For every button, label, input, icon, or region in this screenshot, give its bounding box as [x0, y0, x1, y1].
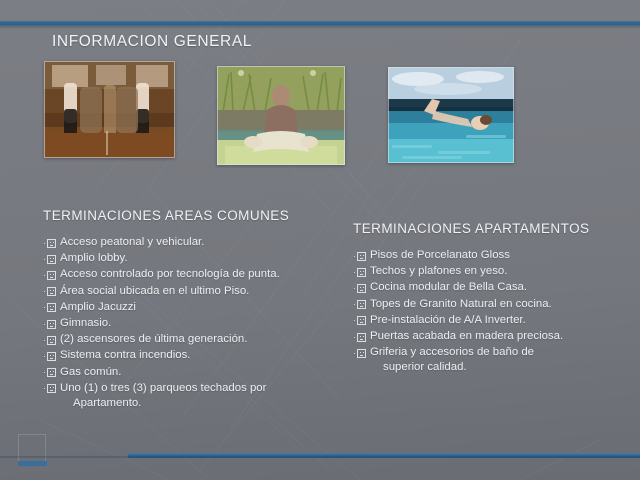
bullet-box-icon: · — [43, 383, 58, 394]
list-item-label: Techos y plafones en yeso. — [370, 265, 507, 277]
list-item-label: Área social ubicada en el ultimo Piso. — [60, 285, 249, 297]
list-item-label: Uno (1) o tres (3) parqueos techados por — [60, 382, 266, 394]
column-heading-apartamentos: TERMINACIONES APARTAMENTOS — [353, 221, 633, 236]
list-item: · Puertas acabada en madera preciosa. — [353, 329, 633, 344]
bullet-box-icon: · — [43, 351, 58, 362]
list-item-label: (2) ascensores de última generación. — [60, 333, 247, 345]
column-heading-areas-comunes: TERMINACIONES AREAS COMUNES — [43, 208, 343, 223]
list-item: · Acceso controlado por tecnología de pu… — [43, 267, 343, 282]
bullet-box-icon: · — [43, 302, 58, 313]
corner-mark-box — [18, 434, 46, 463]
list-item-label-continued: Apartamento. — [60, 396, 343, 411]
list-item: · Topes de Granito Natural en cocina. — [353, 297, 633, 312]
pool-photo-frame — [388, 67, 514, 163]
list-item-label: Acceso peatonal y vehicular. — [60, 236, 204, 248]
gym-photo-frame — [44, 61, 175, 158]
bullet-box-icon: · — [353, 267, 368, 278]
bullet-box-icon: · — [353, 283, 368, 294]
list-item: · Sistema contra incendios. — [43, 348, 343, 363]
list-item: · Uno (1) o tres (3) parqueos techados p… — [43, 381, 343, 411]
list-item: · Amplio lobby. — [43, 251, 343, 266]
list-item-label: Amplio Jacuzzi — [60, 301, 136, 313]
list-areas-comunes: · Acceso peatonal y vehicular. · Amplio … — [43, 235, 343, 411]
list-item-label: Pre-instalación de A/A Inverter. — [370, 314, 526, 326]
presentation-slide: INFORMACION GENERAL — [0, 0, 640, 480]
list-item: · Área social ubicada en el ultimo Piso. — [43, 284, 343, 299]
list-item-label: Gas común. — [60, 366, 121, 378]
corner-mark-bar — [18, 461, 47, 466]
list-item-label: Cocina modular de Bella Casa. — [370, 281, 527, 293]
list-item-label: Acceso controlado por tecnología de punt… — [60, 268, 280, 280]
bullet-box-icon: · — [43, 286, 58, 297]
bullet-box-icon: · — [43, 238, 58, 249]
list-item: · Pre-instalación de A/A Inverter. — [353, 313, 633, 328]
bullet-box-icon: · — [43, 319, 58, 330]
bullet-box-icon: · — [43, 254, 58, 265]
list-item: · Gimnasio. — [43, 316, 343, 331]
list-item-label: Amplio lobby. — [60, 252, 128, 264]
yoga-photo — [217, 66, 345, 165]
list-item-label-continued: superior calidad. — [370, 360, 633, 375]
pool-photo — [388, 67, 514, 163]
bullet-box-icon: · — [353, 251, 368, 262]
list-item: · Pisos de Porcelanato Gloss — [353, 248, 633, 263]
list-item: · Cocina modular de Bella Casa. — [353, 280, 633, 295]
list-item: · Griferia y accesorios de baño de super… — [353, 345, 633, 375]
bullet-box-icon: · — [43, 335, 58, 346]
bullet-box-icon: · — [43, 270, 58, 281]
gym-photo — [44, 61, 175, 158]
top-accent-rule-shadow — [0, 26, 640, 28]
column-areas-comunes: TERMINACIONES AREAS COMUNES · Acceso pea… — [43, 208, 343, 412]
bullet-box-icon: · — [353, 348, 368, 359]
list-apartamentos: · Pisos de Porcelanato Gloss · Techos y … — [353, 248, 633, 376]
list-item-label: Sistema contra incendios. — [60, 349, 190, 361]
bullet-box-icon: · — [353, 299, 368, 310]
list-item: · Amplio Jacuzzi — [43, 300, 343, 315]
bottom-accent-rule-shadow — [0, 456, 640, 458]
list-item-label: Pisos de Porcelanato Gloss — [370, 249, 510, 261]
list-item-label: Gimnasio. — [60, 317, 111, 329]
bullet-box-icon: · — [353, 315, 368, 326]
list-item: · Acceso peatonal y vehicular. — [43, 235, 343, 250]
bullet-box-icon: · — [43, 367, 58, 378]
list-item-label: Puertas acabada en madera preciosa. — [370, 330, 563, 342]
column-apartamentos: TERMINACIONES APARTAMENTOS · Pisos de Po… — [353, 221, 633, 377]
page-title: INFORMACION GENERAL — [52, 33, 252, 51]
list-item: · Gas común. — [43, 365, 343, 380]
yoga-photo-frame — [217, 66, 345, 165]
list-item-label: Topes de Granito Natural en cocina. — [370, 298, 552, 310]
list-item: · Techos y plafones en yeso. — [353, 264, 633, 279]
list-item: · (2) ascensores de última generación. — [43, 332, 343, 347]
list-item-label: Griferia y accesorios de baño de — [370, 346, 534, 358]
bullet-box-icon: · — [353, 332, 368, 343]
